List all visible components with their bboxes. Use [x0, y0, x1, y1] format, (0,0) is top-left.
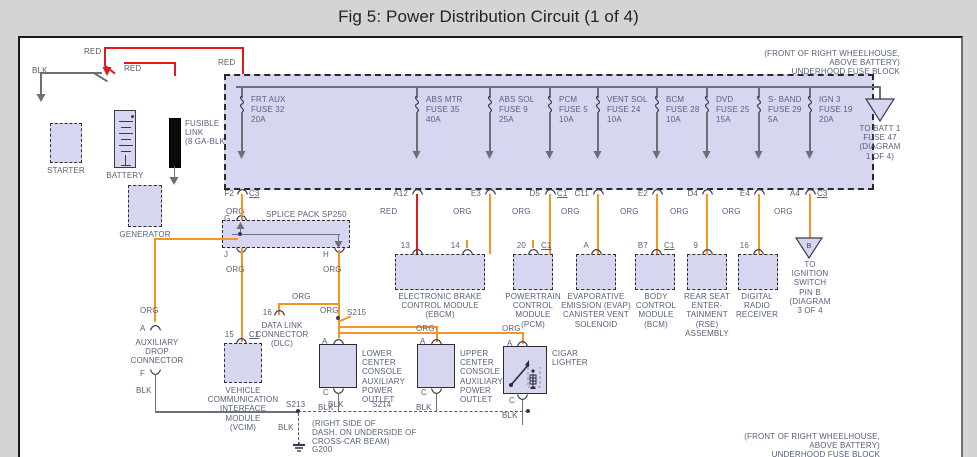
fuse-id-5: FUSE 28 — [666, 105, 700, 114]
component-bcm — [635, 254, 675, 290]
label-red-battery: RED — [124, 64, 141, 73]
upper-outlet-pin-symbol — [431, 337, 440, 344]
ebcm-pin-13: 13 — [392, 241, 410, 250]
component-pcm — [513, 254, 553, 290]
wire-red-batt-to-link — [124, 62, 176, 64]
label-red-top: RED — [84, 47, 101, 56]
component-starter — [50, 123, 82, 163]
fuse-name-6: DVD — [716, 95, 733, 104]
component-rse — [687, 254, 727, 290]
cigar-pin-a: A — [507, 339, 513, 348]
fuse-id-7: FUSE 29 — [768, 105, 802, 114]
arrow-generator — [169, 176, 179, 185]
splice-dot-right — [526, 409, 530, 413]
offpage-connector-to-batt — [865, 98, 895, 122]
wire-pcm-pin20 — [532, 240, 534, 248]
fuse-amp-1: 40A — [426, 115, 441, 124]
label-evap: EVAPORATIVE EMISSION (EVAP) CANISTER VEN… — [558, 292, 634, 329]
aux-drop-pin-symbol — [150, 323, 159, 330]
wire-ebcm-pin14 — [466, 240, 468, 248]
aux-drop-pin-f: F — [140, 369, 145, 378]
label-org-splice-j: ORG — [226, 265, 245, 274]
fuse-amp-2: 25A — [499, 115, 514, 124]
component-cigar-lighter — [503, 346, 547, 394]
fuse-amp-0: 20A — [251, 115, 266, 124]
fuse-conn-8: C3 — [817, 189, 828, 198]
fuse-name-5: BCM — [666, 95, 684, 104]
fuse-name-8: IGN 3 — [819, 95, 841, 104]
label-g200: G200 — [312, 445, 332, 454]
label-bcm: BODY CONTROL MODULE (BCM) — [628, 292, 684, 329]
fuse-name-2: ABS SOL — [499, 95, 534, 104]
fuse-id-2: FUSE 9 — [499, 105, 528, 114]
bcm-pin-b7: B7 — [628, 241, 648, 250]
fuse-name-3: PCM — [559, 95, 577, 104]
fuse-pin-3: D5 — [512, 189, 540, 198]
dlc-pin-symbol — [274, 308, 283, 315]
svg-text:B: B — [807, 243, 812, 250]
upper-outlet-pin-c: C — [421, 388, 427, 397]
wire-org-gen-h — [154, 238, 234, 240]
wire-fuse-8 — [809, 194, 811, 238]
label-org-aux-drop: ORG — [140, 306, 159, 315]
label-fusible-link: FUSIBLE LINK (8 GA-BLK) — [185, 119, 228, 147]
fuse-amp-8: 20A — [819, 115, 834, 124]
ground-bus — [298, 411, 528, 412]
label-blk-ground: BLK — [278, 423, 294, 432]
cigar-pin-symbol — [517, 339, 526, 346]
vcim-pin-symbol — [236, 336, 245, 343]
fuse-wire-6: ORG — [670, 207, 689, 216]
label-org-upper-outlet: ORG — [416, 324, 435, 333]
wire-red-link-drop — [174, 62, 176, 76]
wiring-diagram-canvas: (FRONT OF RIGHT WHEELHOUSE, ABOVE BATTER… — [18, 36, 963, 457]
wire-dlc-h — [278, 303, 340, 305]
fuse-pin-1: A12 — [378, 189, 408, 198]
wire-cigar-gnd — [522, 400, 524, 425]
fuse-amp-3: 10A — [559, 115, 574, 124]
fuse-amp-7: 5A — [768, 115, 778, 124]
fuse-wire-2: ORG — [453, 207, 472, 216]
upper-outlet-pin-a: A — [420, 337, 426, 346]
wire-fuse-5 — [656, 194, 658, 254]
component-ebcm — [395, 254, 485, 290]
label-ground-note: (RIGHT SIDE OF DASH, ON UNDERSIDE OF CRO… — [312, 419, 417, 447]
label-red-fuseblock: RED — [218, 58, 235, 67]
drr-pin-16: 16 — [731, 241, 749, 250]
ground-drop-wire — [298, 413, 299, 445]
wire-splice-j-down — [241, 250, 243, 342]
fuse-wire-5: ORG — [620, 207, 639, 216]
label-org-splice-h: ORG — [323, 265, 342, 274]
fuse-pin-2: E3 — [453, 189, 481, 198]
fuse-id-6: FUSE 25 — [716, 105, 750, 114]
fuse-name-1: ABS MTR — [426, 95, 463, 104]
component-evap-vent-solenoid — [576, 254, 616, 290]
component-battery — [114, 110, 136, 168]
fuse-amp-6: 15A — [716, 115, 731, 124]
label-org-dlc: ORG — [292, 292, 311, 301]
component-fusible-link — [169, 118, 181, 168]
figure-title-bar: Fig 5: Power Distribution Circuit (1 of … — [0, 0, 977, 33]
fuse-id-0: FUSE 32 — [251, 105, 285, 114]
wire-red-to-fuseblock — [242, 47, 244, 76]
wire-f2-to-g — [241, 194, 243, 216]
fuse-pin-8: A4 — [772, 189, 800, 198]
fuse-name-4: VENT SOL — [607, 95, 648, 104]
label-org-s215-down: ORG — [320, 306, 339, 315]
component-upper-console-outlet — [417, 344, 455, 388]
evap-pin-a: A — [573, 241, 589, 250]
lower-outlet-pin-a: A — [322, 337, 328, 346]
ebcm-pin-14: 14 — [442, 241, 460, 250]
wire-fuse-4 — [597, 194, 599, 254]
arrow-battery-red — [102, 66, 112, 76]
cigar-pin-c: C — [509, 396, 515, 405]
fuse-pin-4: C11 — [558, 189, 589, 198]
rse-pin-9: 9 — [682, 241, 698, 250]
label-upper-console-outlet: UPPER CENTER CONSOLE AUXILIARY POWER OUT… — [460, 349, 503, 404]
ground-symbol-g200 — [291, 442, 307, 454]
vcim-pin-15: 15 — [216, 330, 234, 339]
label-battery: BATTERY — [100, 171, 150, 180]
wire-upper-outlet-gnd — [436, 393, 438, 412]
fuse-wire-8: ORG — [774, 207, 793, 216]
label-blk-aux-drop: BLK — [136, 386, 152, 395]
bcm-conn-c1: C1 — [664, 241, 675, 250]
label-starter: STARTER — [36, 166, 96, 175]
component-generator — [128, 185, 162, 227]
fuse-id-4: FUSE 24 — [607, 105, 641, 114]
label-ebcm: ELECTRONIC BRAKE CONTROL MODULE (EBCM) — [392, 292, 488, 320]
fuse-wire-3: ORG — [512, 207, 531, 216]
fuse-wire-7: ORG — [722, 207, 741, 216]
component-vcim — [224, 343, 262, 383]
wire-fuse-7 — [758, 194, 760, 254]
label-blk-cigar: BLK — [502, 411, 518, 420]
pcm-pin-20: 20 — [508, 241, 526, 250]
label-to-batt-1: TO BATT 1 FUSE 47 (DIAGRAM 1 OF 4) — [840, 124, 920, 161]
fuse-name-0: FRT AUX — [251, 95, 286, 104]
note-underhood-fuse-block-top: (FRONT OF RIGHT WHEELHOUSE, ABOVE BATTER… — [560, 49, 900, 77]
wire-red-top — [104, 47, 244, 49]
label-digital-radio-receiver: DIGITAL RADIO RECEIVER — [726, 292, 788, 320]
wire-splice-h-down — [338, 250, 340, 338]
component-lower-console-outlet — [319, 344, 357, 388]
wire-fuse-1 — [416, 194, 418, 254]
fuse-block-bus — [236, 86, 860, 88]
lower-outlet-pin-c: C — [323, 388, 329, 397]
label-aux-drop-connector: AUXILIARY DROP CONNECTOR — [124, 338, 190, 366]
wire-fuse-2 — [489, 194, 491, 254]
fuse-amp-5: 10A — [666, 115, 681, 124]
fuse-id-1: FUSE 35 — [426, 105, 460, 114]
label-s213: S213 — [286, 400, 305, 409]
wire-fuse-6 — [706, 194, 708, 254]
arrow-starter — [36, 93, 46, 102]
fuse-name-7: S- BAND — [768, 95, 802, 104]
fuse-conn-0: C3 — [249, 189, 260, 198]
label-org-cigar: ORG — [502, 324, 521, 333]
wire-aux-drop-gnd — [155, 374, 157, 412]
pcm-conn-c1: C1 — [541, 241, 552, 250]
page-title: Fig 5: Power Distribution Circuit (1 of … — [338, 7, 639, 27]
splice-pin-g: G — [224, 214, 230, 223]
label-vcim: VEHICLE COMMUNICATION INTERFACE MODULE (… — [202, 386, 284, 432]
label-lower-console-outlet: LOWER CENTER CONSOLE AUXILIARY POWER OUT… — [362, 349, 405, 404]
lower-outlet-pin-symbol — [333, 337, 342, 344]
fuse-id-8: FUSE 19 — [819, 105, 853, 114]
wire-red-battery-drop — [104, 47, 106, 65]
fuse-wire-1: RED — [380, 207, 397, 216]
component-digital-radio-receiver — [738, 254, 778, 290]
splice-pin-h: H — [323, 250, 329, 259]
fuse-pin-5: E2 — [620, 189, 648, 198]
aux-drop-pin-a: A — [140, 324, 146, 333]
splice-pin-j: J — [224, 250, 228, 259]
label-splice-pack: SPLICE PACK SP250 — [266, 210, 347, 219]
screenshot-root: Fig 5: Power Distribution Circuit (1 of … — [0, 0, 977, 455]
label-blk-bus: BLK — [328, 400, 344, 409]
label-cigar-lighter: CIGAR LIGHTER — [552, 349, 588, 367]
fuse-pin-7: E4 — [722, 189, 750, 198]
fuse-pin-6: D4 — [670, 189, 698, 198]
fuse-amp-4: 10A — [607, 115, 622, 124]
dlc-pin-number: 16 — [252, 308, 272, 317]
fuse-wire-4: ORG — [561, 207, 580, 216]
fuse-id-3: FUSE 5 — [559, 105, 588, 114]
fuse-pin-0: F2 — [206, 189, 234, 198]
note-underhood-fuse-block-bottom: (FRONT OF RIGHT WHEELHOUSE, ABOVE BATTER… — [540, 432, 880, 457]
vcim-conn-c1: C1 — [249, 330, 260, 339]
label-s214: S214 — [372, 400, 391, 409]
offpage-connector-ignition: B — [795, 237, 823, 259]
